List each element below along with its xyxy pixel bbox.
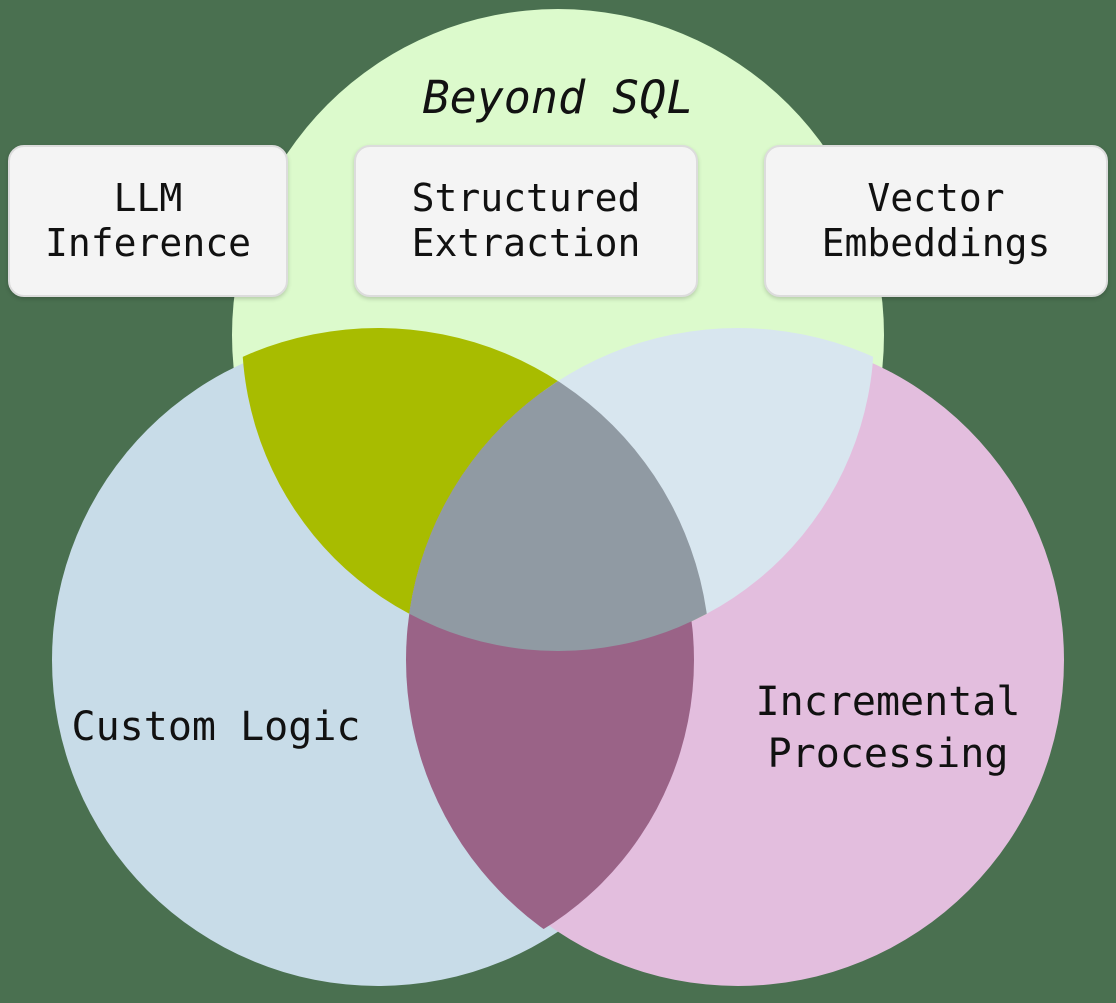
chip-structured-extraction-line1: Structured [412,176,641,221]
set-label-custom-logic: Custom Logic [72,704,361,750]
chip-structured-extraction-line2: Extraction [412,221,641,266]
set-label-incremental-line1: Incremental [756,679,1021,725]
annotation-chip-row: LLM Inference Structured Extraction Vect… [0,145,1116,305]
chip-vector-embeddings-line2: Embeddings [822,221,1051,266]
venn-diagram-canvas: Beyond SQL Custom Logic Incremental Proc… [0,0,1116,1003]
chip-llm-inference-line1: LLM [114,176,183,221]
chip-llm-inference[interactable]: LLM Inference [8,145,288,297]
chip-vector-embeddings[interactable]: Vector Embeddings [764,145,1108,297]
diagram-title: Beyond SQL [423,71,694,124]
chip-vector-embeddings-line1: Vector [867,176,1004,221]
chip-llm-inference-line2: Inference [45,221,251,266]
set-label-incremental-line2: Processing [768,731,1009,777]
chip-structured-extraction[interactable]: Structured Extraction [354,145,698,297]
